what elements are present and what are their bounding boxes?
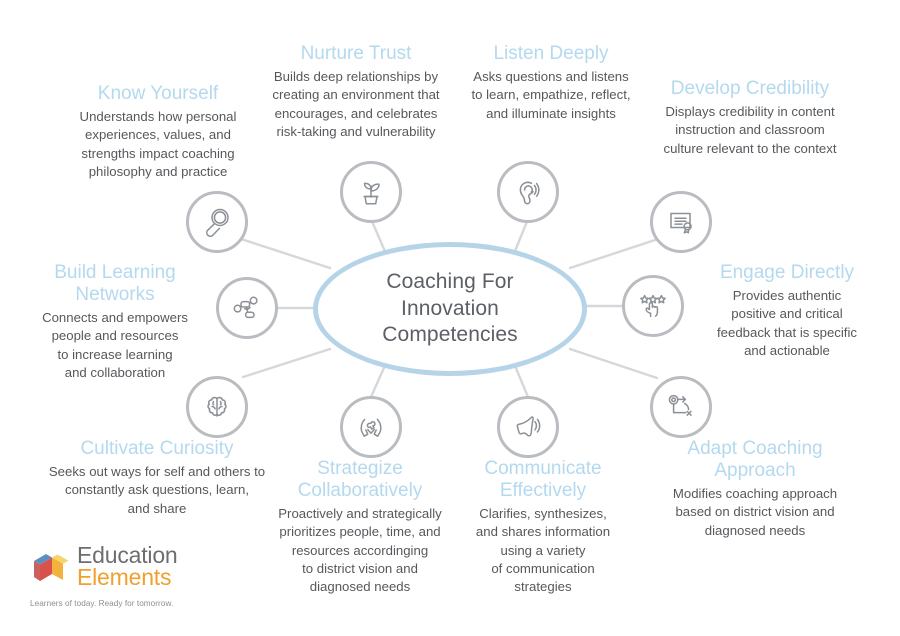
network-nodes-icon <box>230 291 264 325</box>
center-hub: Coaching For Innovation Competencies <box>313 242 587 376</box>
node-nurture-trust[interactable] <box>340 161 402 223</box>
node-strategize-collaboratively[interactable] <box>340 396 402 458</box>
competency-develop-credibility: Develop Credibility Displays credibility… <box>630 78 870 158</box>
competency-listen-deeply: Listen Deeply Asks questions and listens… <box>455 43 647 123</box>
node-develop-credibility[interactable] <box>650 191 712 253</box>
node-adapt-coaching-approach[interactable] <box>650 376 712 438</box>
logo-tagline: Learners of today. Ready for tomorrow. <box>30 599 220 608</box>
competency-nurture-trust: Nurture Trust Builds deep relationships … <box>258 43 454 141</box>
node-communicate-effectively[interactable] <box>497 396 559 458</box>
competency-body: Clarifies, synthesizes, and shares infor… <box>457 505 629 597</box>
competency-body: Builds deep relationships by creating an… <box>258 68 454 141</box>
competency-adapt-coaching-approach: Adapt Coaching Approach Modifies coachin… <box>638 438 872 540</box>
connector-develop-credibility <box>570 239 658 268</box>
star-rating-hand-icon <box>636 289 670 323</box>
competency-body: Seeks out ways for self and others to co… <box>32 463 282 518</box>
node-listen-deeply[interactable] <box>497 161 559 223</box>
logo-word-elements: Elements <box>77 566 178 588</box>
reroute-arrow-icon <box>664 390 698 424</box>
competency-communicate-effectively: Communicate Effectively Clarifies, synth… <box>457 458 629 597</box>
competency-heading: Engage Directly <box>694 262 880 284</box>
competency-heading: Build Learning Networks <box>22 262 208 306</box>
logo-mark-icon <box>30 545 74 594</box>
hub-title: Coaching For Innovation Competencies <box>382 269 517 350</box>
competency-heading: Nurture Trust <box>258 43 454 65</box>
education-elements-logo: Education Elements Learners of today. Re… <box>30 545 220 608</box>
competency-heading: Communicate Effectively <box>457 458 629 502</box>
competency-heading: Cultivate Curiosity <box>32 438 282 460</box>
competency-heading: Adapt Coaching Approach <box>638 438 872 482</box>
node-know-yourself[interactable] <box>186 191 248 253</box>
ear-icon <box>511 175 545 209</box>
hand-mirror-icon <box>200 205 234 239</box>
competency-heading: Listen Deeply <box>455 43 647 65</box>
logo-word-education: Education <box>77 544 178 566</box>
node-build-learning-networks[interactable] <box>216 277 278 339</box>
certificate-icon <box>664 205 698 239</box>
competency-heading: Know Yourself <box>38 83 278 105</box>
node-cultivate-curiosity[interactable] <box>186 376 248 438</box>
competency-body: Displays credibility in content instruct… <box>630 103 870 158</box>
competency-heading: Develop Credibility <box>630 78 870 100</box>
node-engage-directly[interactable] <box>622 275 684 337</box>
infographic-canvas: Coaching For Innovation Competencies <box>0 0 900 636</box>
competency-build-learning-networks: Build Learning Networks Connects and emp… <box>22 262 208 382</box>
competency-body: Asks questions and listens to learn, emp… <box>455 68 647 123</box>
competency-body: Provides authentic positive and critical… <box>694 287 880 360</box>
competency-body: Modifies coaching approach based on dist… <box>638 485 872 540</box>
competency-engage-directly: Engage Directly Provides authentic posit… <box>694 262 880 360</box>
competency-body: Connects and empowers people and resourc… <box>22 309 208 382</box>
megaphone-icon <box>511 410 545 444</box>
competency-know-yourself: Know Yourself Understands how personal e… <box>38 83 278 181</box>
competency-body: Understands how personal experiences, va… <box>38 108 278 181</box>
connector-adapt-coaching-approach <box>570 349 657 378</box>
handshake-puzzle-icon <box>354 410 388 444</box>
connector-cultivate-curiosity <box>243 349 330 377</box>
connector-know-yourself <box>241 239 330 268</box>
brain-icon <box>200 390 234 424</box>
competency-heading: Strategize Collaboratively <box>262 458 458 502</box>
competency-body: Proactively and strategically prioritize… <box>262 505 458 597</box>
competency-cultivate-curiosity: Cultivate Curiosity Seeks out ways for s… <box>32 438 282 518</box>
competency-strategize-collaboratively: Strategize Collaboratively Proactively a… <box>262 458 458 597</box>
potted-plant-icon <box>354 175 388 209</box>
